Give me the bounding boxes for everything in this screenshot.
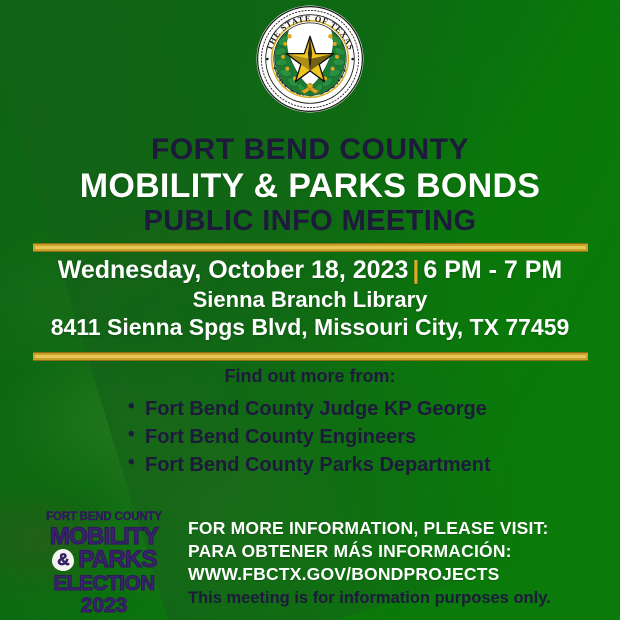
find-out-more-list: Fort Bend County Judge KP George Fort Be… (0, 395, 620, 480)
logo-line-mobility: MOBILITY (44, 525, 164, 549)
footer-line-spanish: PARA OBTENER MÁS INFORMACIÓN: (188, 540, 551, 563)
footer-line-english: FOR MORE INFORMATION, PLEASE VISIT: (188, 517, 551, 540)
list-item: Fort Bend County Parks Department (128, 451, 620, 479)
footer-url[interactable]: WWW.FBCTX.GOV/BONDPROJECTS (188, 563, 551, 586)
footer-disclaimer: This meeting is for information purposes… (188, 588, 551, 610)
title-line-meeting: PUBLIC INFO MEETING (0, 205, 620, 238)
meeting-date: Wednesday, October 18, 2023 (58, 256, 409, 284)
logo-ampersand: & (57, 551, 69, 568)
list-item: Fort Bend County Engineers (128, 423, 620, 451)
logo-line-parks: PARKS (78, 548, 156, 572)
seal-container: THE STATE OF TEXAS FORT BEND COUNTY (0, 5, 620, 113)
flyer-content: THE STATE OF TEXAS FORT BEND COUNTY (0, 0, 620, 620)
footer-block: FOR MORE INFORMATION, PLEASE VISIT: PARA… (188, 517, 551, 610)
mobility-parks-election-logo: FORT BEND COUNTY MOBILITY & PARKS ELECTI… (44, 512, 164, 616)
title-line-bonds: MOBILITY & PARKS BONDS (0, 167, 620, 205)
find-out-more-heading: Find out more from: (0, 366, 620, 388)
logo-line-election: ELECTION (44, 573, 164, 594)
logo-line-county: FORT BEND COUNTY (44, 512, 164, 524)
meeting-time: 6 PM - 7 PM (423, 256, 562, 284)
logo-ampersand-leaf-icon: & (51, 549, 75, 571)
divider-top (33, 243, 588, 252)
logo-line-year: 2023 (44, 595, 164, 616)
flyer-canvas: THE STATE OF TEXAS FORT BEND COUNTY (0, 0, 620, 620)
title-block: FORT BEND COUNTY MOBILITY & PARKS BONDS … (0, 133, 620, 238)
logo-line-amp-parks: & PARKS (44, 548, 164, 572)
find-out-more-block: Find out more from: Fort Bend County Jud… (0, 366, 620, 480)
meeting-datetime: Wednesday, October 18, 2023|6 PM - 7 PM (0, 255, 620, 286)
meeting-address: 8411 Sienna Spgs Blvd, Missouri City, TX… (0, 313, 620, 342)
title-line-county: FORT BEND COUNTY (0, 133, 620, 167)
meeting-separator: | (408, 256, 423, 284)
meeting-details: Wednesday, October 18, 2023|6 PM - 7 PM … (0, 255, 620, 342)
meeting-venue: Sienna Branch Library (0, 286, 620, 313)
list-item: Fort Bend County Judge KP George (128, 395, 620, 423)
divider-bottom (33, 352, 588, 361)
fort-bend-county-seal-icon: THE STATE OF TEXAS FORT BEND COUNTY (256, 5, 364, 113)
